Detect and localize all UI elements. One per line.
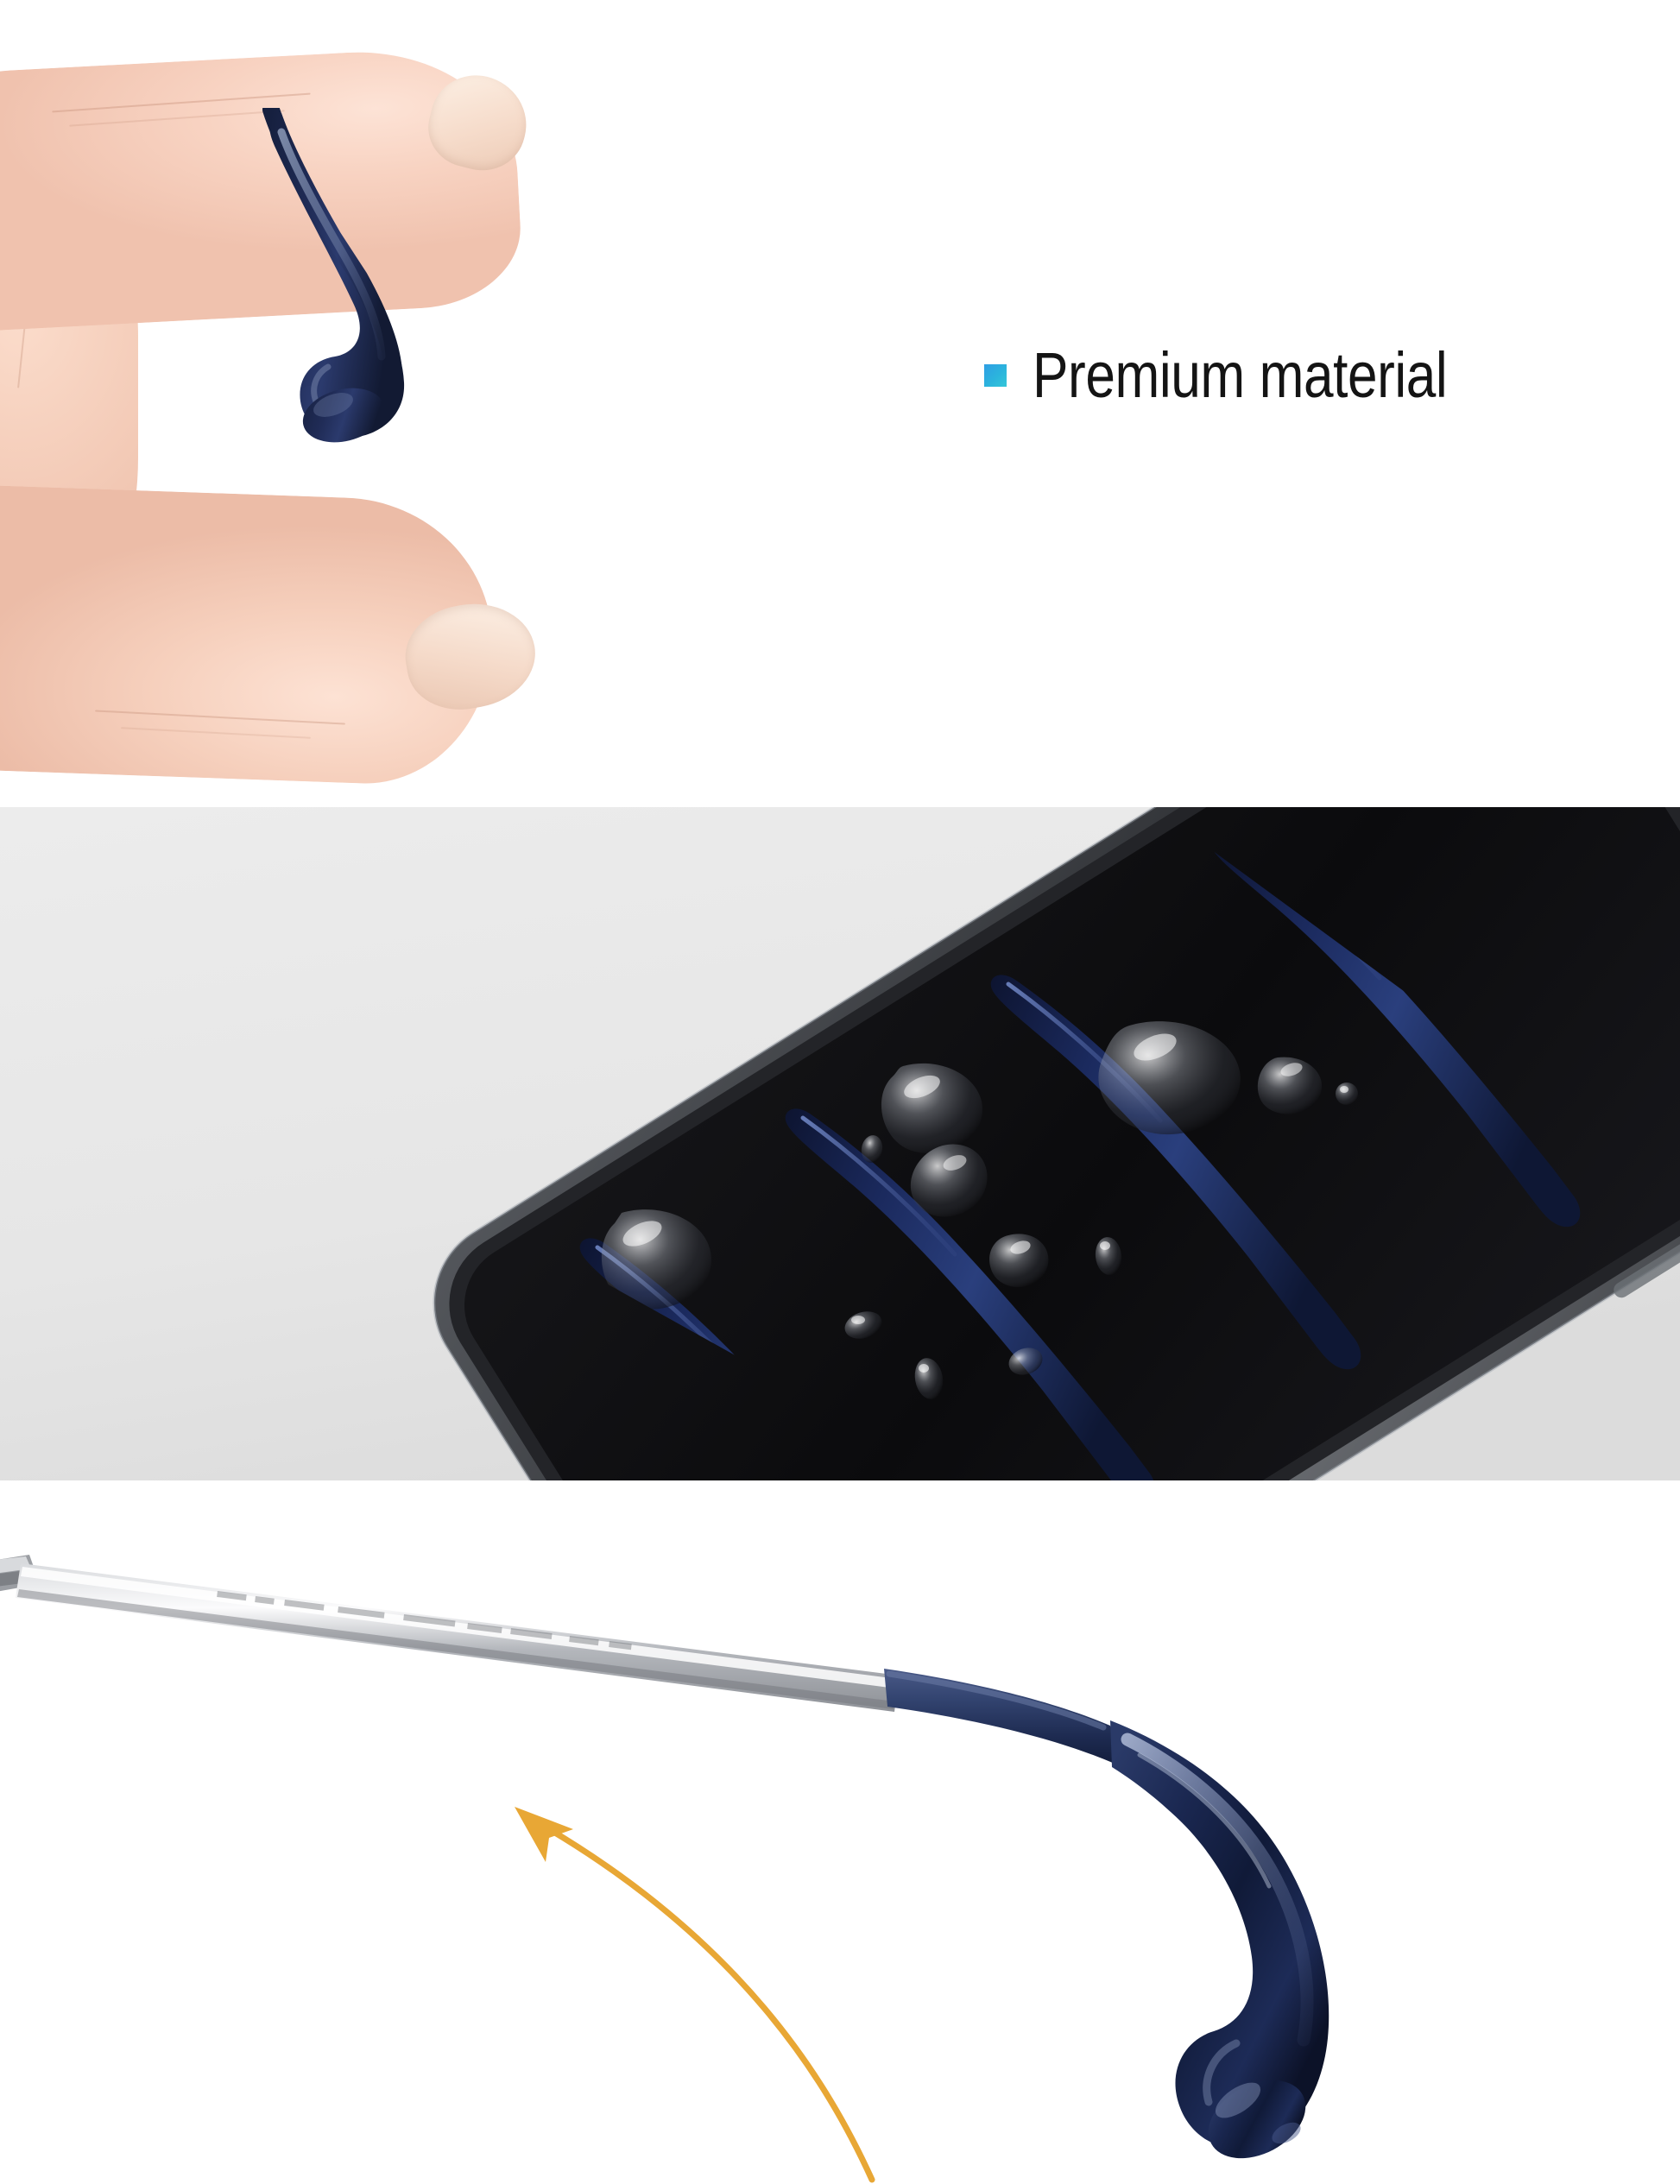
non-slip-panel: Non–slip (0, 807, 1680, 1480)
premium-material-panel: Premium material (0, 0, 1680, 807)
easy-to-install-panel: Easy to install (0, 1480, 1680, 2184)
phone-photo (0, 807, 1680, 1480)
feature-premium-material: Premium material (984, 344, 1526, 407)
temple-tip-held (199, 108, 561, 522)
feature-label: Premium material (1033, 344, 1447, 407)
square-bullet-icon (984, 364, 1007, 387)
temple-arm-photo (0, 1480, 1680, 2184)
hand-photo (0, 9, 613, 807)
